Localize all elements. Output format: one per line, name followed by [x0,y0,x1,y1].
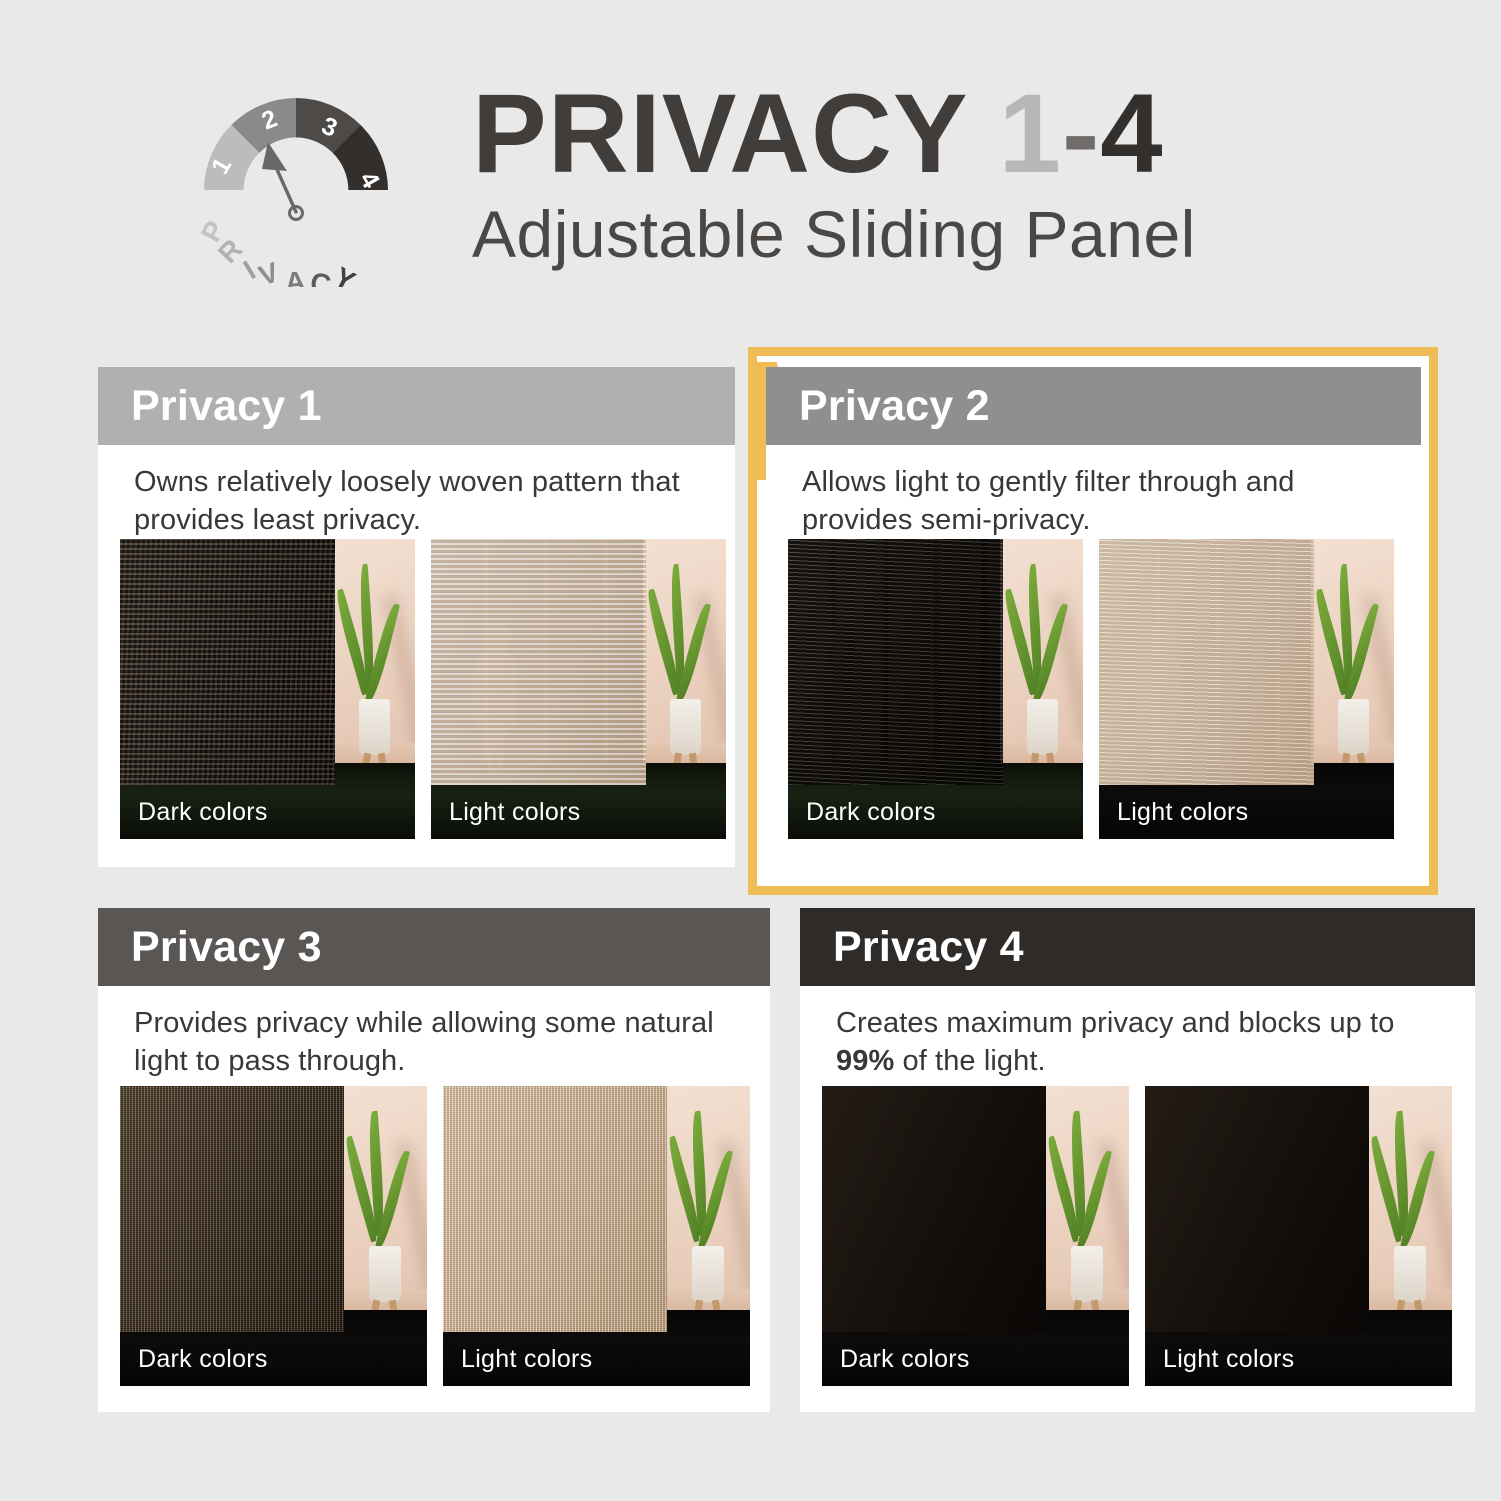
plant-decor [652,581,720,755]
photo-dark-4[interactable]: Dark colors [822,1086,1129,1386]
photo-dark-3[interactable]: Dark colors [120,1086,427,1386]
photo-pair-4: Dark colors [822,1086,1452,1386]
photo-pair-1: Dark colors [120,539,726,839]
plant-decor [1009,581,1077,755]
card-title-1: Privacy 1 [131,382,322,431]
plant-decor [1052,1128,1123,1302]
privacy-level-card-1[interactable]: Privacy 1 Owns relatively loosely woven … [98,367,735,867]
desc-pre: Creates maximum privacy and blocks up to [836,1007,1394,1039]
plant-decor [350,1128,421,1302]
plant-decor [1375,1128,1446,1302]
desc-post: of the light. [894,1045,1045,1077]
plant-decor [673,1128,744,1302]
photo-label-light: Light colors [1145,1332,1452,1386]
photo-pair-2: Dark colors [788,539,1394,839]
plant-decor [1320,581,1388,755]
card-description-4: Creates maximum privacy and blocks up to… [836,1004,1441,1081]
photo-label-dark: Dark colors [120,1332,427,1386]
card-description-1: Owns relatively loosely woven pattern th… [134,463,701,540]
photo-label-light: Light colors [443,1332,750,1386]
photo-label-light: Light colors [431,785,726,839]
photo-light-2[interactable]: Light colors [1099,539,1394,839]
privacy-level-grid: Privacy 1 Owns relatively loosely woven … [0,0,1501,1501]
card-title-3: Privacy 3 [131,923,322,972]
photo-light-1[interactable]: Light colors [431,539,726,839]
photo-dark-2[interactable]: Dark colors [788,539,1083,839]
card-header-3: Privacy 3 [98,908,770,986]
privacy-level-card-4[interactable]: Privacy 4 Creates maximum privacy and bl… [800,908,1475,1412]
photo-label-dark: Dark colors [788,785,1083,839]
card-title-2: Privacy 2 [799,382,990,431]
photo-label-dark: Dark colors [120,785,415,839]
privacy-level-card-3[interactable]: Privacy 3 Provides privacy while allowin… [98,908,770,1412]
plant-decor [341,581,409,755]
photo-light-3[interactable]: Light colors [443,1086,750,1386]
photo-pair-3: Dark colors [120,1086,750,1386]
card-description-2: Allows light to gently filter through an… [802,463,1387,540]
photo-label-dark: Dark colors [822,1332,1129,1386]
card-title-4: Privacy 4 [833,923,1024,972]
privacy-level-card-2[interactable]: Privacy 2 Allows light to gently filter … [766,367,1421,867]
card-header-1: Privacy 1 [98,367,735,445]
card-header-2: Privacy 2 [766,367,1421,445]
desc-highlight: 99% [836,1045,894,1077]
photo-dark-1[interactable]: Dark colors [120,539,415,839]
photo-label-light: Light colors [1099,785,1394,839]
card-header-4: Privacy 4 [800,908,1475,986]
card-description-3: Provides privacy while allowing some nat… [134,1004,736,1081]
photo-light-4[interactable]: Light colors [1145,1086,1452,1386]
